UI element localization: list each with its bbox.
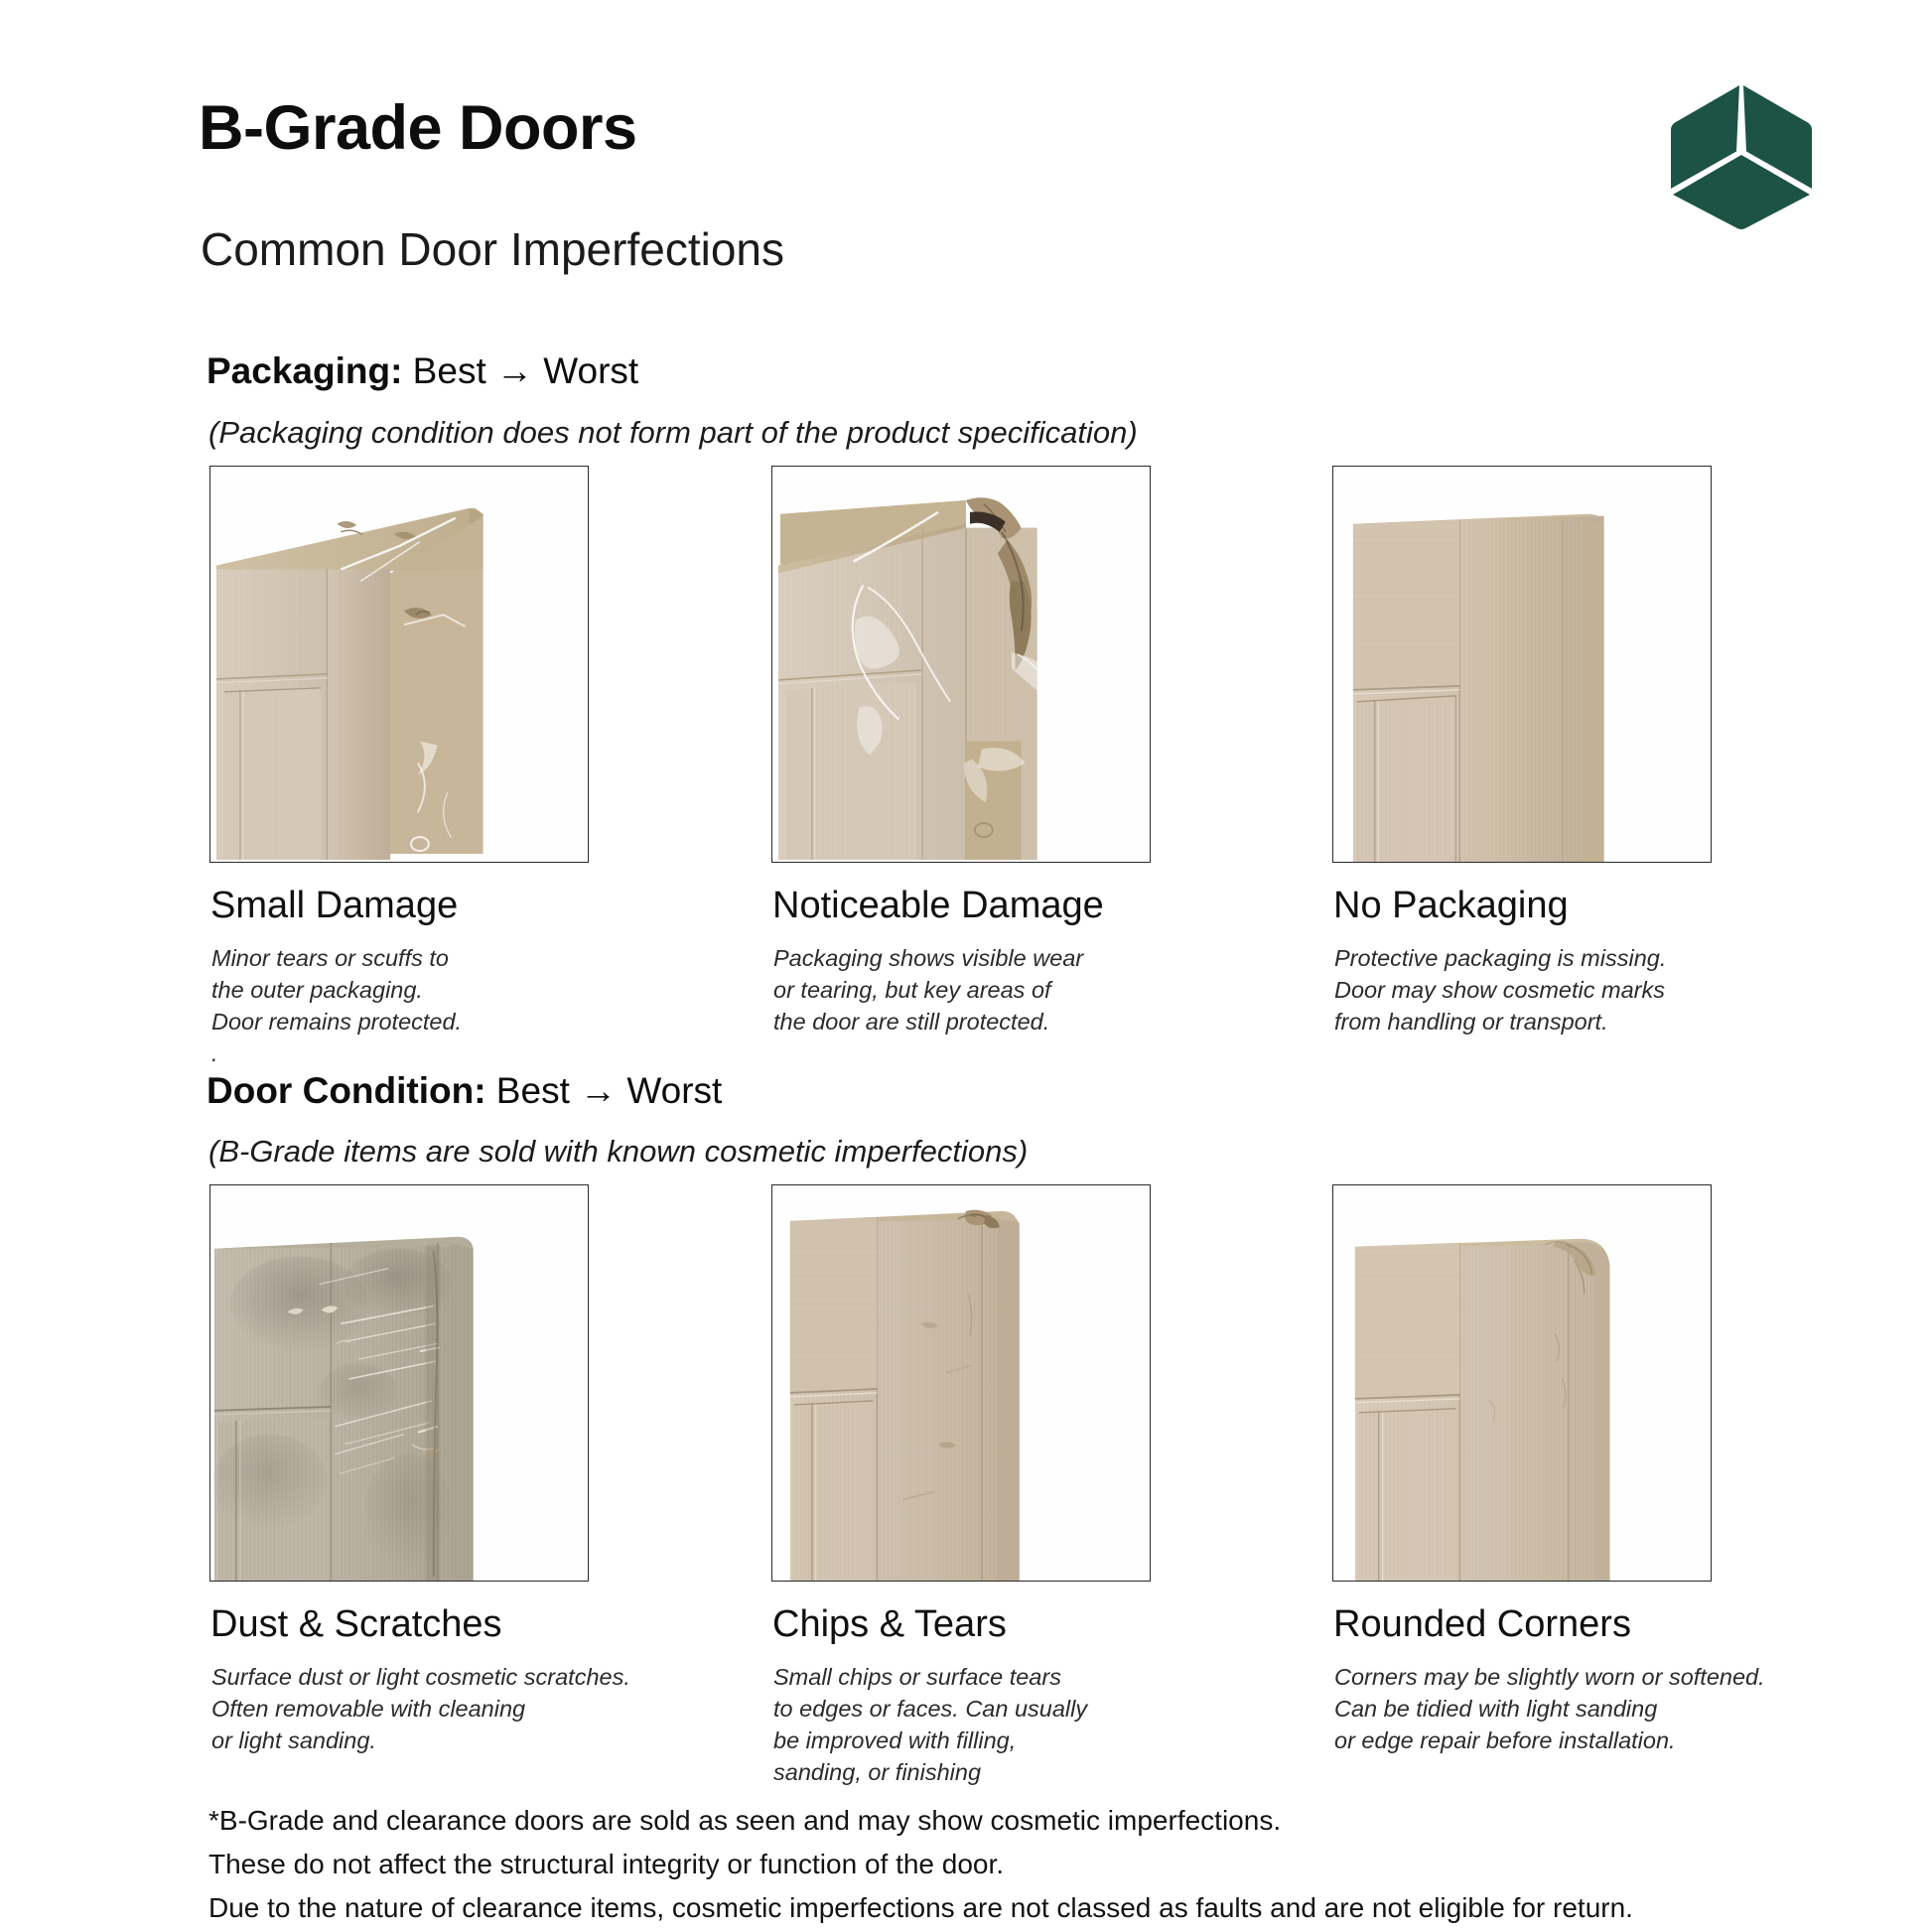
card-description-line: from handling or transport.: [1334, 1006, 1666, 1037]
section-heading-light: Best → Worst: [402, 350, 638, 391]
card-title: Small Damage: [210, 887, 458, 924]
poster-page: B-Grade Doors Common Door Imperfections …: [0, 0, 1932, 1932]
card-description-line: Door remains protected.: [211, 1006, 462, 1037]
footer-line: Due to the nature of clearance items, co…: [208, 1886, 1633, 1930]
section-note-door-condition: (B-Grade items are sold with known cosme…: [208, 1136, 1028, 1167]
card-description-line: Protective packaging is missing.: [1334, 942, 1666, 974]
card-title: Noticeable Damage: [772, 887, 1104, 924]
section-heading-bold: Door Condition:: [207, 1070, 486, 1111]
card-description-line: be improved with filling,: [773, 1725, 1087, 1756]
card-description-line: or edge repair before installation.: [1334, 1725, 1765, 1756]
header: B-Grade Doors Common Door Imperfections: [0, 0, 1932, 328]
isometric-cube-logo: [1669, 82, 1814, 231]
card-description-line: .: [211, 1037, 462, 1069]
footer-disclaimer: *B-Grade and clearance doors are sold as…: [208, 1799, 1633, 1930]
card-description-line: Surface dust or light cosmetic scratches…: [211, 1661, 630, 1693]
card-description-line: Minor tears or scuffs to: [211, 942, 462, 974]
door-corner-small-packaging-damage-photo: [209, 466, 589, 863]
footer-line: *B-Grade and clearance doors are sold as…: [208, 1799, 1633, 1843]
card-title: Dust & Scratches: [210, 1605, 502, 1643]
door-corner-noticeable-packaging-damage-photo: [771, 466, 1151, 863]
card-description: Surface dust or light cosmetic scratches…: [211, 1661, 630, 1756]
section-heading-bold: Packaging:: [207, 350, 402, 391]
card-description: Packaging shows visible wear or tearing,…: [773, 942, 1083, 1037]
card-description-line: Packaging shows visible wear: [773, 942, 1083, 974]
footer-line: These do not affect the structural integ…: [208, 1843, 1633, 1886]
card-description-line: sanding, or finishing: [773, 1756, 1087, 1788]
card-description: Corners may be slightly worn or softened…: [1334, 1661, 1765, 1756]
card-description: Small chips or surface tears to edges or…: [773, 1661, 1087, 1788]
page-subtitle: Common Door Imperfections: [201, 226, 784, 272]
section-heading-packaging: Packaging: Best → Worst: [207, 352, 638, 389]
section-heading-door-condition: Door Condition: Best → Worst: [207, 1072, 722, 1109]
card-description-line: the outer packaging.: [211, 974, 462, 1006]
card-description-line: Door may show cosmetic marks: [1334, 974, 1666, 1006]
card-description-line: Corners may be slightly worn or softened…: [1334, 1661, 1765, 1693]
page-title: B-Grade Doors: [199, 97, 637, 160]
door-corner-dust-and-scratches-photo: [209, 1184, 589, 1582]
card-title: Rounded Corners: [1333, 1605, 1631, 1643]
card-description: Minor tears or scuffs to the outer packa…: [211, 942, 462, 1069]
card-description-line: the door are still protected.: [773, 1006, 1083, 1037]
card-title: No Packaging: [1333, 887, 1569, 924]
door-corner-no-packaging-photo: [1332, 466, 1712, 863]
section-note-packaging: (Packaging condition does not form part …: [208, 417, 1138, 448]
door-corner-rounded-corners-photo: [1332, 1184, 1712, 1582]
card-description-line: Can be tidied with light sanding: [1334, 1693, 1765, 1725]
card-description-line: to edges or faces. Can usually: [773, 1693, 1087, 1725]
card-description-line: Often removable with cleaning: [211, 1693, 630, 1725]
card-description-line: Small chips or surface tears: [773, 1661, 1087, 1693]
section-heading-light: Best → Worst: [486, 1070, 723, 1111]
card-description-line: or light sanding.: [211, 1725, 630, 1756]
card-description: Protective packaging is missing. Door ma…: [1334, 942, 1666, 1037]
card-title: Chips & Tears: [772, 1605, 1007, 1643]
card-description-line: or tearing, but key areas of: [773, 974, 1083, 1006]
door-corner-chips-and-tears-photo: [771, 1184, 1151, 1582]
